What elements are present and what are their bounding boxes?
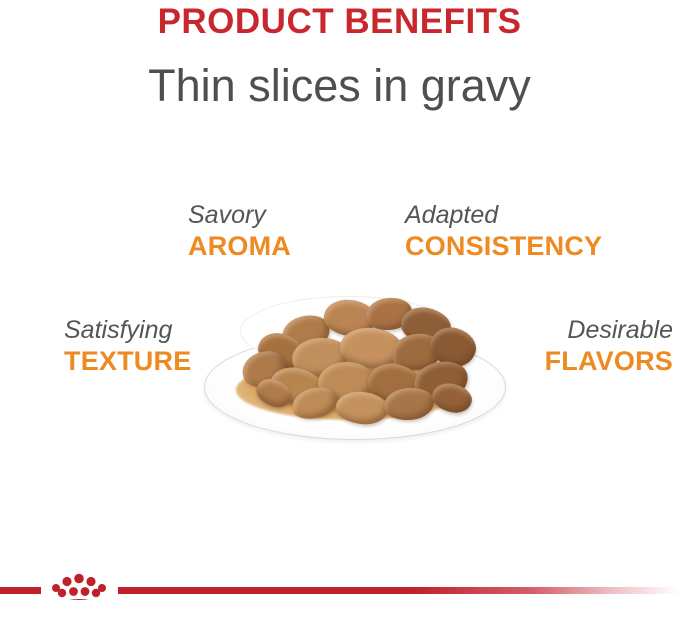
page-subtitle: Thin slices in gravy <box>0 60 679 112</box>
benefit-consistency-noun: CONSISTENCY <box>405 230 602 262</box>
benefit-consistency: Adapted CONSISTENCY <box>405 200 602 262</box>
benefit-texture-noun: TEXTURE <box>64 345 191 377</box>
product-food-image <box>196 276 516 444</box>
benefit-aroma-adjective: Savory <box>188 200 291 230</box>
benefit-aroma: Savory AROMA <box>188 200 291 262</box>
benefit-flavors-noun: FLAVORS <box>545 345 673 377</box>
footer-rule-left <box>0 587 41 594</box>
benefit-aroma-noun: AROMA <box>188 230 291 262</box>
benefit-flavors-adjective: Desirable <box>545 315 673 345</box>
benefit-flavors: Desirable FLAVORS <box>545 315 673 377</box>
benefit-texture-adjective: Satisfying <box>64 315 191 345</box>
product-benefits-panel: PRODUCT BENEFITS Thin slices in gravy Sa… <box>0 0 679 620</box>
footer-whitespace <box>0 600 679 620</box>
benefit-consistency-adjective: Adapted <box>405 200 602 230</box>
benefit-texture: Satisfying TEXTURE <box>64 315 191 377</box>
footer-rule-right <box>118 587 679 594</box>
page-title: PRODUCT BENEFITS <box>0 2 679 42</box>
meat-slices-pile <box>196 276 516 444</box>
